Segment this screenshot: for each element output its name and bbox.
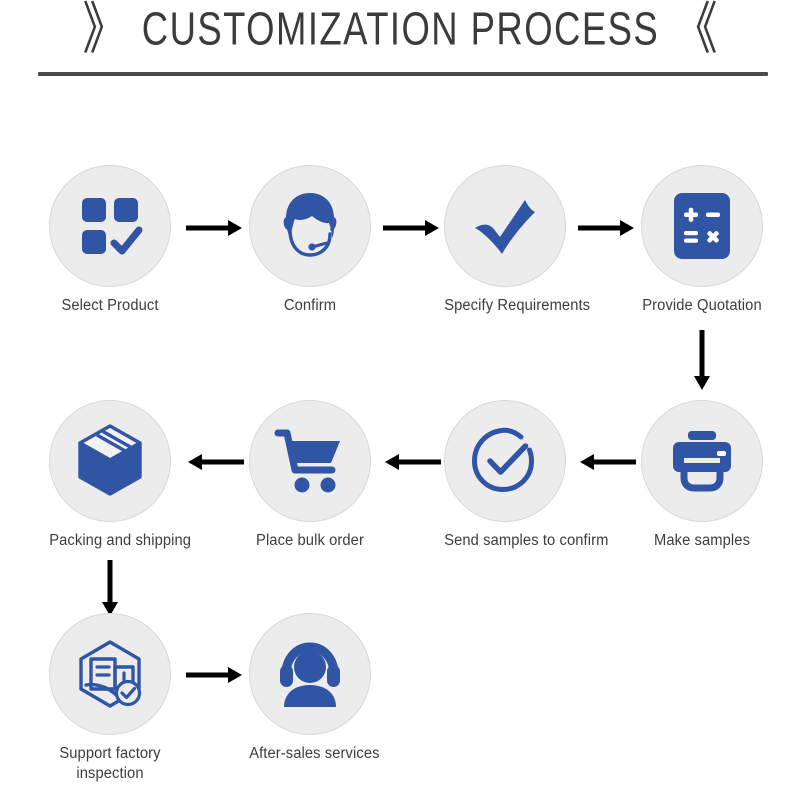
step-label: Confirm [249, 296, 371, 316]
step-icon-bubble [49, 613, 171, 735]
printer-icon [665, 429, 739, 493]
circle-check-icon [468, 424, 542, 498]
step-icon-bubble [249, 165, 371, 287]
step-label: Send samples to confirm [444, 531, 566, 551]
step-label: After-sales services [249, 744, 371, 764]
process-step-make-samples[interactable]: Make samples [638, 400, 766, 551]
grid-check-icon [74, 190, 146, 262]
connector-arrow-down [692, 330, 712, 392]
connector-arrow-left [186, 452, 244, 472]
step-icon-bubble [444, 400, 566, 522]
process-flow-diagram: Select Product Confirm [0, 0, 800, 800]
checkmark-icon [467, 188, 543, 264]
process-step-after-sales-services[interactable]: After-sales services [246, 613, 374, 764]
step-icon-bubble [49, 165, 171, 287]
process-step-specify-requirements[interactable]: Specify Requirements [441, 165, 569, 316]
connector-arrow-left [383, 452, 441, 472]
process-step-provide-quotation[interactable]: Provide Quotation [638, 165, 766, 316]
connector-arrow-right [578, 218, 636, 238]
step-icon-bubble [49, 400, 171, 522]
process-step-select-product[interactable]: Select Product [46, 165, 174, 316]
process-step-confirm[interactable]: Confirm [246, 165, 374, 316]
connector-arrow-right [186, 218, 244, 238]
support-person-icon [273, 639, 347, 709]
step-icon-bubble [249, 613, 371, 735]
process-step-place-bulk-order[interactable]: Place bulk order [246, 400, 374, 551]
step-label: Select Product [49, 296, 171, 316]
connector-arrow-left [578, 452, 636, 472]
step-icon-bubble [641, 165, 763, 287]
step-label: Place bulk order [249, 531, 371, 551]
step-label: Specify Requirements [444, 296, 566, 316]
connector-arrow-right [383, 218, 441, 238]
step-label: Make samples [641, 531, 763, 551]
process-step-packing-and-shipping[interactable]: Packing and shipping [46, 400, 174, 551]
factory-shield-check-icon [73, 637, 147, 711]
step-icon-bubble [249, 400, 371, 522]
shopping-cart-icon [272, 426, 348, 496]
headset-agent-icon [271, 187, 349, 265]
connector-arrow-right [186, 665, 244, 685]
package-box-icon [72, 423, 148, 499]
step-label: Support factory inspection [39, 744, 182, 784]
step-icon-bubble [641, 400, 763, 522]
process-step-support-factory-inspection[interactable]: Support factory inspection [46, 613, 174, 784]
step-label: Provide Quotation [641, 296, 763, 316]
process-step-send-samples-to-confirm[interactable]: Send samples to confirm [441, 400, 569, 551]
step-icon-bubble [444, 165, 566, 287]
connector-arrow-down [100, 560, 120, 618]
step-label: Packing and shipping [49, 531, 171, 551]
calculator-icon [669, 189, 735, 263]
